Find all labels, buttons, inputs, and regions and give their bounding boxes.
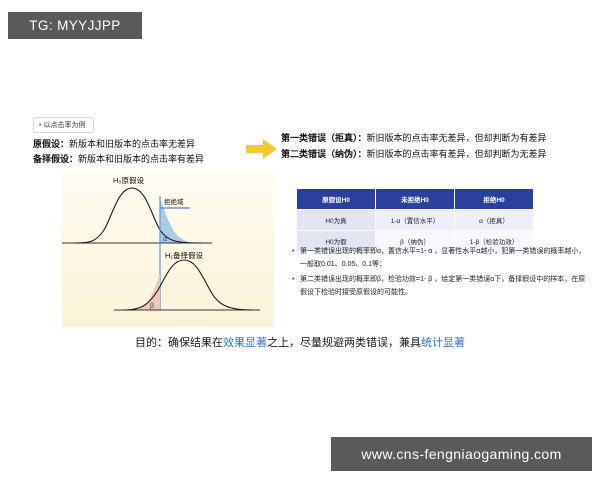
type1-error-text: 新旧版本的点击率无差异，但却判断为有差异 — [367, 133, 547, 143]
h1-label: H₁备择假设 — [165, 250, 203, 260]
table-header-cell: 拒绝H0 — [455, 189, 534, 210]
caption-highlight-effect: 效果显著 — [223, 337, 267, 349]
error-definitions-block: 第一类错误（拒真）：新旧版本的点击率无差异，但却判断为有差异 第二类错误（纳伪）… — [281, 130, 591, 162]
watermark-top: TG: MYYJJPP — [8, 12, 142, 39]
type1-error-label: 第一类错误（拒真）： — [281, 133, 367, 143]
null-hypothesis-text: 新版本和旧版本的点击率无差异 — [69, 139, 195, 149]
example-tag: •以点击率为例 — [33, 117, 94, 133]
table-cell: H0为真 — [297, 210, 376, 231]
notes-list: 第一类错误出现的概率即α，置信水平=1- α ，显著性水平α越小，犯第一类错误的… — [292, 246, 592, 302]
table-header-cell: 未拒绝H0 — [376, 189, 455, 210]
hypothesis-block: •以点击率为例 原假设：新版本和旧版本的点击率无差异 备择假设：新版本和旧版本的… — [33, 114, 248, 167]
type2-error-line: 第二类错误（纳伪）：新旧版本的点击率有差异，但却判断为无差异 — [281, 146, 591, 162]
list-item: 第一类错误出现的概率即α，置信水平=1- α ，显著性水平α越小，犯第一类错误的… — [292, 246, 592, 271]
h1-curve — [124, 260, 252, 310]
h0-label: H₀原假设 — [113, 175, 145, 185]
table-cell: 1-α（置信水平） — [376, 210, 455, 231]
caption-prefix: 目的：确保结果在 — [135, 337, 223, 349]
h0-curve — [74, 188, 202, 243]
caption-middle: 之上，尽量规避两类错误，兼具 — [267, 337, 421, 349]
null-hypothesis-label: 原假设： — [33, 139, 69, 149]
table-header-row: 原假设H0 未拒绝H0 拒绝H0 — [297, 189, 534, 210]
summary-caption: 目的：确保结果在效果显著之上，尽量规避两类错误，兼具统计显著 — [0, 334, 600, 350]
error-type-table-wrapper: 原假设H0 未拒绝H0 拒绝H0 H0为真 1-α（置信水平） α（拒真） H0… — [296, 188, 534, 252]
slide-canvas: •以点击率为例 原假设：新版本和旧版本的点击率无差异 备择假设：新版本和旧版本的… — [0, 0, 600, 480]
hypothesis-curves-figure: H₀原假设 拒绝域 α H₁备择假设 β — [62, 172, 274, 327]
alpha-label: α — [163, 236, 167, 243]
type2-error-label: 第二类错误（纳伪）： — [281, 149, 367, 159]
example-tag-label: 以点击率为例 — [43, 122, 85, 129]
table-header-cell: 原假设H0 — [297, 189, 376, 210]
alt-hypothesis-label: 备择假设： — [33, 154, 78, 164]
error-type-table: 原假设H0 未拒绝H0 拒绝H0 H0为真 1-α（置信水平） α（拒真） H0… — [296, 188, 534, 252]
alt-hypothesis-line: 备择假设：新版本和旧版本的点击率有差异 — [33, 152, 248, 167]
type2-error-text: 新旧版本的点击率有差异，但却判断为无差异 — [367, 149, 547, 159]
bullet-icon: • — [39, 122, 41, 129]
beta-label: β — [150, 303, 154, 310]
arrow-right-icon — [246, 139, 278, 159]
table-row: H0为真 1-α（置信水平） α（拒真） — [297, 210, 534, 231]
type1-error-line: 第一类错误（拒真）：新旧版本的点击率无差异，但却判断为有差异 — [281, 130, 591, 146]
rejection-region-label: 拒绝域 — [164, 197, 184, 206]
null-hypothesis-line: 原假设：新版本和旧版本的点击率无差异 — [33, 137, 248, 152]
alt-hypothesis-text: 新版本和旧版本的点击率有差异 — [78, 154, 204, 164]
caption-highlight-statistical: 统计显著 — [421, 337, 465, 349]
list-item: 第二类错误出现的概率即β，检验功效=1- β ，给定第一类错误α下，备择假设中的… — [292, 274, 592, 299]
table-cell: α（拒真） — [455, 210, 534, 231]
watermark-bottom: www.cns-fengniaogaming.com — [331, 437, 592, 471]
